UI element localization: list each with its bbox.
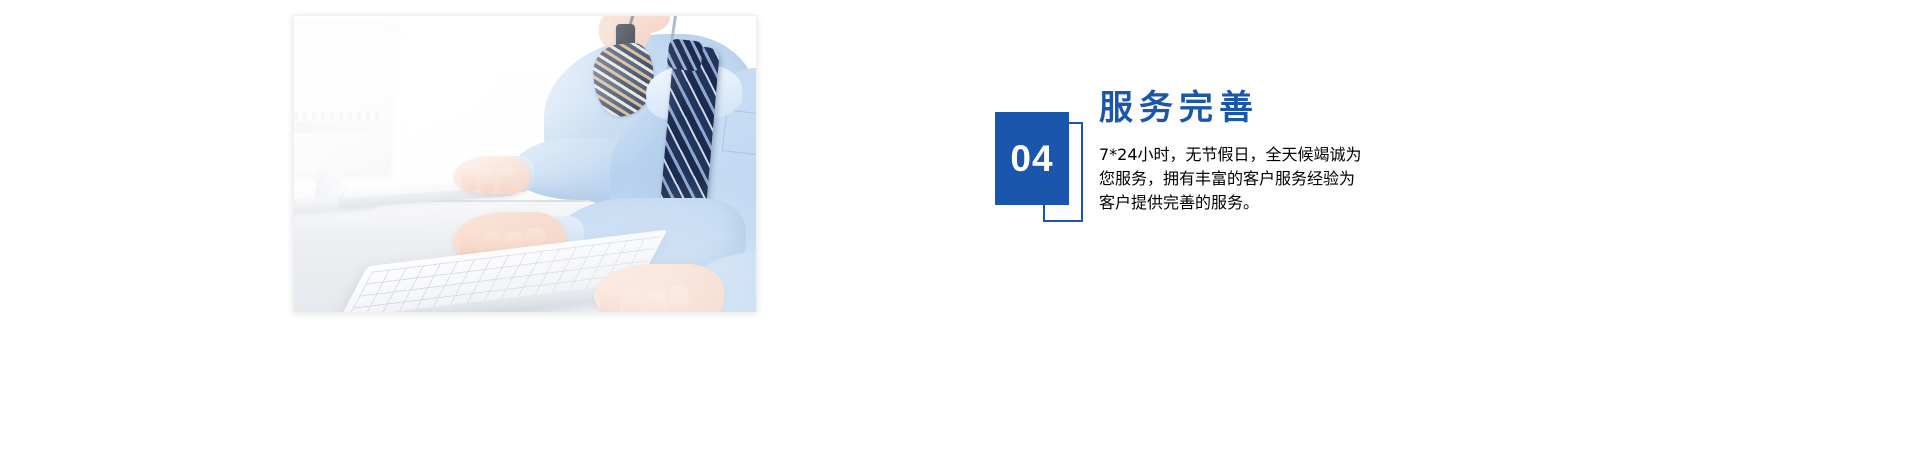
finger [623, 288, 643, 312]
necktie-knot [667, 38, 704, 71]
feature-text-block: 服务完善 7*24小时，无节假日，全天候竭诚为 您服务，拥有丰富的客户服务经验为… [1099, 90, 1519, 229]
promo-section: 04 服务完善 7*24小时，无节假日，全天候竭诚为 您服务，拥有丰富的客户服务… [0, 0, 1920, 452]
feature-title: 服务完善 [1099, 90, 1519, 127]
finger [646, 290, 666, 312]
description-line-1: 7*24小时，无节假日，全天候竭诚为 [1099, 141, 1519, 165]
description-line-2: 您服务，拥有丰富的客户服务经验为 [1099, 165, 1519, 189]
shirt-pocket [722, 109, 756, 157]
monitor-bezel [294, 121, 392, 133]
finger [669, 286, 689, 312]
finger [462, 166, 477, 192]
photo-illustration [294, 16, 756, 312]
monitor-icon [294, 24, 398, 174]
badge-number-label: 04 [995, 112, 1069, 205]
monitor-screen-detail [294, 112, 382, 119]
step-number-badge: 04 [995, 106, 1091, 226]
description-line-3: 客户提供完善的服务。 [1099, 189, 1519, 213]
feature-photo [294, 16, 756, 312]
finger [600, 284, 620, 312]
finger [480, 168, 495, 194]
finger [498, 167, 513, 193]
